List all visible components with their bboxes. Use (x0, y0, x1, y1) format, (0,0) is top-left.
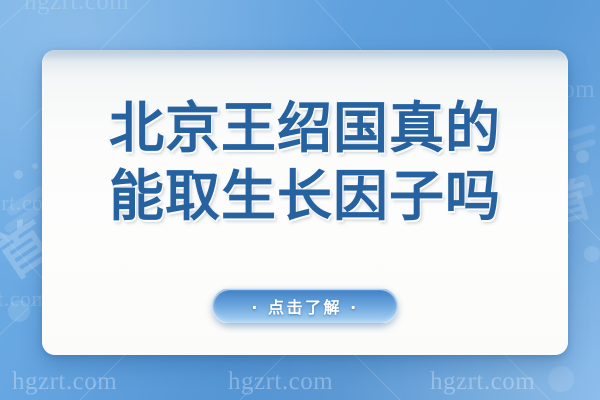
deco-blob (5, 185, 47, 218)
watermark-site: hgzrt.com (430, 368, 535, 396)
watermark-site: hgzrt.com (228, 368, 333, 396)
cta-button-label: · 点击了解 · (251, 294, 358, 318)
deco-dot (32, 163, 38, 169)
deco-blob (3, 205, 41, 235)
page-title: 北京王绍国真的 能取生长因子吗 (42, 94, 568, 230)
headline-line-2: 能取生长因子吗 (42, 162, 568, 230)
poster-canvas: hgzrt.com hgzrt.com hgzrt.com hgzrt.com … (0, 0, 600, 400)
card-top-sheen (42, 50, 568, 76)
watermark-site: hgzrt.com (12, 368, 117, 396)
deco-dot (548, 366, 574, 392)
deco-blob (572, 138, 597, 151)
cta-container: · 点击了解 · (42, 288, 568, 324)
watermark-site: hgzrt.com (24, 0, 129, 16)
content-card: 北京王绍国真的 能取生长因子吗 · 点击了解 · (42, 50, 568, 355)
deco-dot (576, 150, 589, 163)
deco-dot (14, 170, 23, 179)
deco-dot (8, 300, 30, 322)
deco-dot (584, 246, 600, 262)
headline-line-1: 北京王绍国真的 (42, 94, 568, 162)
deco-blob (566, 124, 597, 140)
click-to-learn-button[interactable]: · 点击了解 · (212, 288, 398, 324)
